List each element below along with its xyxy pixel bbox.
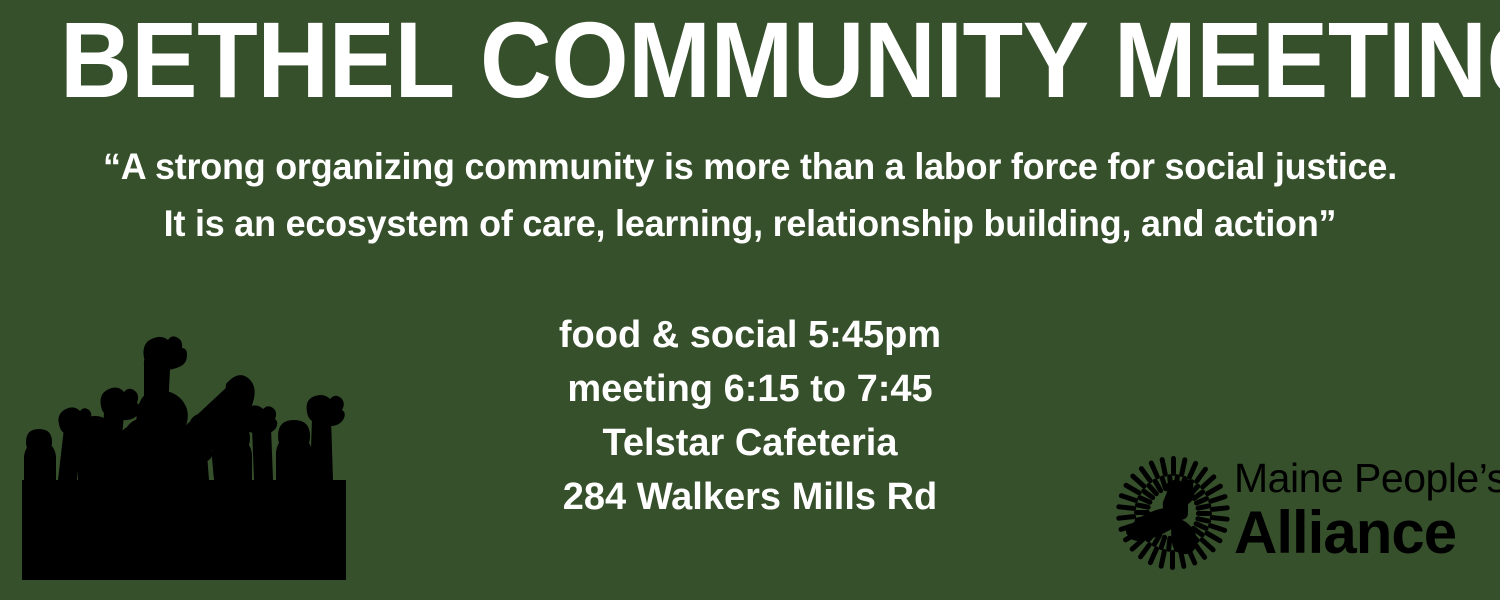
quote-line-2: It is an ecosystem of care, learning, re… bbox=[23, 195, 1478, 252]
quote-line-1: “A strong organizing community is more t… bbox=[23, 138, 1478, 195]
detail-address: 284 Walkers Mills Rd bbox=[415, 470, 1085, 524]
page-title: BETHEL COMMUNITY MEETING bbox=[60, 6, 1440, 114]
starburst-fist-icon bbox=[1112, 452, 1234, 574]
maine-peoples-alliance-logo: Maine People’s Alliance bbox=[1112, 452, 1488, 578]
logo-wordmark: Maine People’s Alliance bbox=[1234, 454, 1488, 564]
quote-block: “A strong organizing community is more t… bbox=[23, 138, 1478, 252]
detail-venue: Telstar Cafeteria bbox=[415, 416, 1085, 470]
detail-food-social-time: food & social 5:45pm bbox=[415, 308, 1085, 362]
event-flyer: BETHEL COMMUNITY MEETING “A strong organ… bbox=[0, 0, 1500, 600]
detail-meeting-time: meeting 6:15 to 7:45 bbox=[415, 362, 1085, 416]
logo-line-maine-peoples: Maine People’s bbox=[1234, 454, 1488, 502]
event-details: food & social 5:45pm meeting 6:15 to 7:4… bbox=[415, 308, 1085, 524]
protest-crowd-silhouette-icon bbox=[22, 332, 346, 580]
logo-line-alliance: Alliance bbox=[1234, 502, 1488, 564]
